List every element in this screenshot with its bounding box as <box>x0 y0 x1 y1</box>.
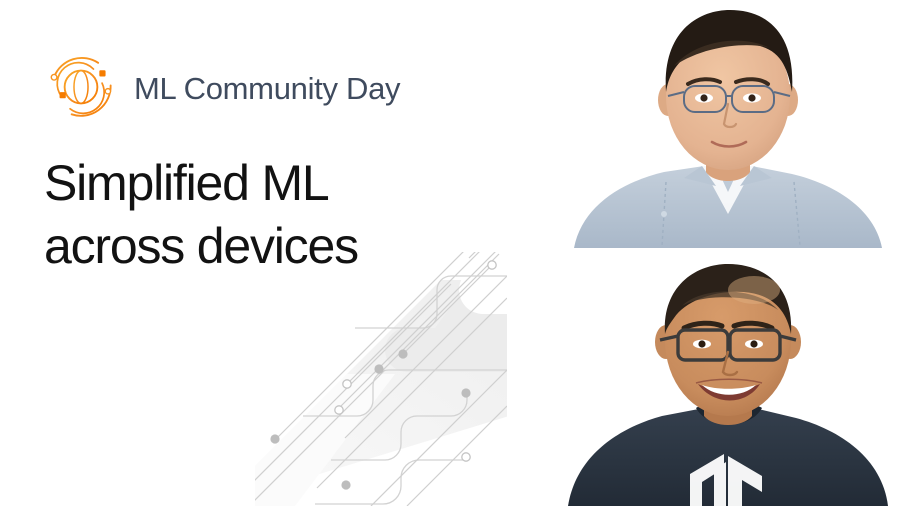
circuit-node-hollow <box>462 453 470 461</box>
circuit-board-decoration <box>255 252 507 506</box>
headline-line-1: Simplified ML <box>44 152 504 215</box>
circuit-node-hollow <box>488 261 496 269</box>
speaker-portrait-top <box>556 0 900 248</box>
circuit-board-graphic <box>255 252 507 506</box>
circuit-node-filled <box>461 388 470 397</box>
circuit-node-filled <box>270 434 279 443</box>
speaker-photo-bottom <box>556 256 900 506</box>
speaker-photo-top <box>556 0 900 248</box>
speaker-portrait-bottom <box>556 256 900 506</box>
brand-title: ML Community Day <box>134 73 400 104</box>
presentation-slide: ML Community Day Simplified ML across de… <box>0 0 900 506</box>
circuit-node-hollow <box>335 406 343 414</box>
globe-orbit-icon <box>42 48 120 126</box>
circuit-node-filled <box>341 480 350 489</box>
brand-lockup: ML Community Day <box>42 48 400 126</box>
circuit-node-filled <box>374 364 383 373</box>
circuit-node-hollow <box>343 380 351 388</box>
circuit-node-filled <box>398 349 407 358</box>
